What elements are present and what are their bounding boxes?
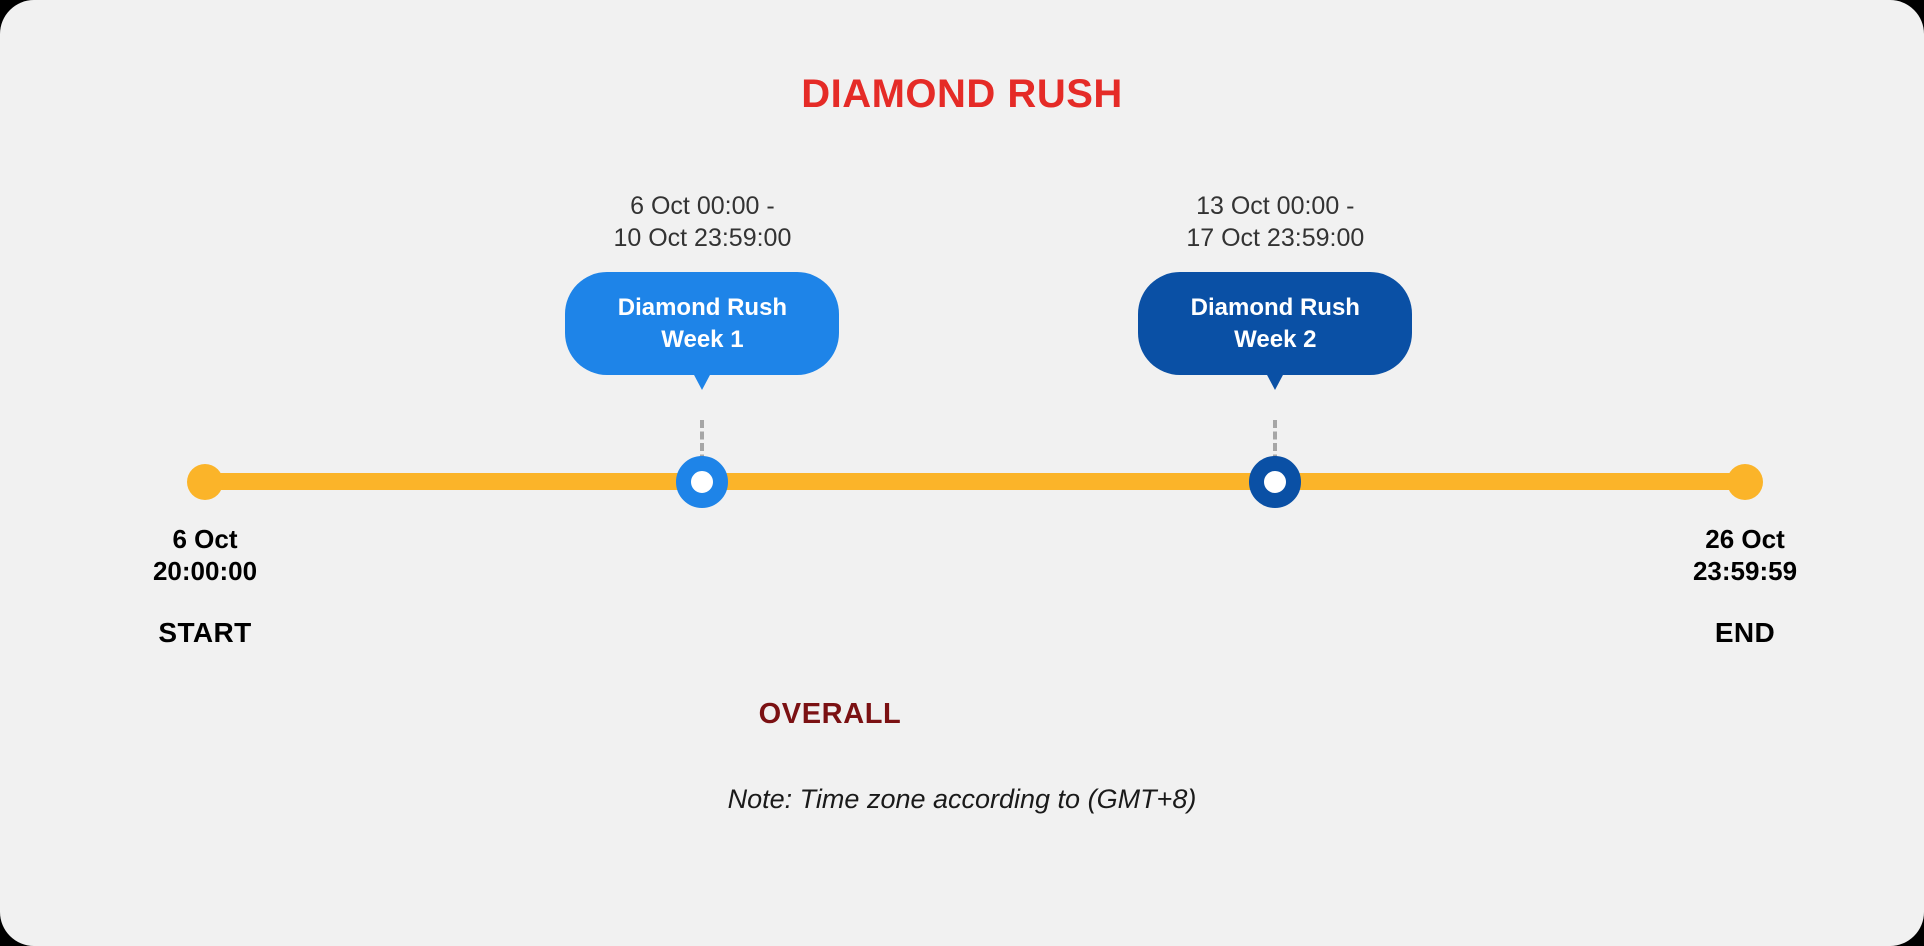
milestone-badge-week-1[interactable]: Diamond Rush Week 1: [565, 272, 839, 375]
end-tag: END: [1580, 617, 1910, 649]
milestone-date-to: 17 Oct 23:59:00: [1105, 222, 1445, 254]
milestone-group-week-2: 13 Oct 00:00 - 17 Oct 23:59:00 Diamond R…: [1105, 190, 1445, 375]
timeline-end-dot-icon: [1727, 464, 1763, 500]
timeline-end-caption: 26 Oct 23:59:59 END: [1580, 524, 1910, 649]
badge-label-line1: Diamond Rush: [1160, 292, 1390, 324]
timeline-marker-week-2-icon[interactable]: [1249, 456, 1301, 508]
start-tag: START: [40, 617, 370, 649]
badge-pointer-icon: [693, 373, 711, 390]
badge-label-line1: Diamond Rush: [587, 292, 817, 324]
timeline-marker-week-1-icon[interactable]: [676, 456, 728, 508]
timeline-card: DIAMOND RUSH 6 Oct 00:00 - 10 Oct 23:59:…: [0, 0, 1924, 946]
start-time: 20:00:00: [40, 556, 370, 588]
milestone-date-range: 6 Oct 00:00 - 10 Oct 23:59:00: [532, 190, 872, 254]
timezone-note: Note: Time zone according to (GMT+8): [0, 784, 1924, 815]
milestone-badge-week-2[interactable]: Diamond Rush Week 2: [1138, 272, 1412, 375]
badge-pointer-icon: [1266, 373, 1284, 390]
end-date: 26 Oct: [1580, 524, 1910, 556]
end-datetime: 26 Oct 23:59:59: [1580, 524, 1910, 587]
timeline-start-dot-icon: [187, 464, 223, 500]
start-datetime: 6 Oct 20:00:00: [40, 524, 370, 587]
milestone-badge-wrapper: Diamond Rush Week 1: [532, 272, 872, 375]
timeline-start-caption: 6 Oct 20:00:00 START: [40, 524, 370, 649]
timeline-axis: [205, 473, 1745, 490]
milestone-date-from: 13 Oct 00:00 -: [1105, 190, 1445, 222]
badge-label-line2: Week 2: [1160, 324, 1390, 356]
milestone-group-week-1: 6 Oct 00:00 - 10 Oct 23:59:00 Diamond Ru…: [532, 190, 872, 375]
milestone-date-to: 10 Oct 23:59:00: [532, 222, 872, 254]
milestone-date-range: 13 Oct 00:00 - 17 Oct 23:59:00: [1105, 190, 1445, 254]
milestone-date-from: 6 Oct 00:00 -: [532, 190, 872, 222]
milestone-badge-wrapper: Diamond Rush Week 2: [1105, 272, 1445, 375]
end-time: 23:59:59: [1580, 556, 1910, 588]
start-date: 6 Oct: [40, 524, 370, 556]
page-title: DIAMOND RUSH: [0, 72, 1924, 117]
badge-label-line2: Week 1: [587, 324, 817, 356]
overall-label: OVERALL: [0, 698, 1660, 731]
